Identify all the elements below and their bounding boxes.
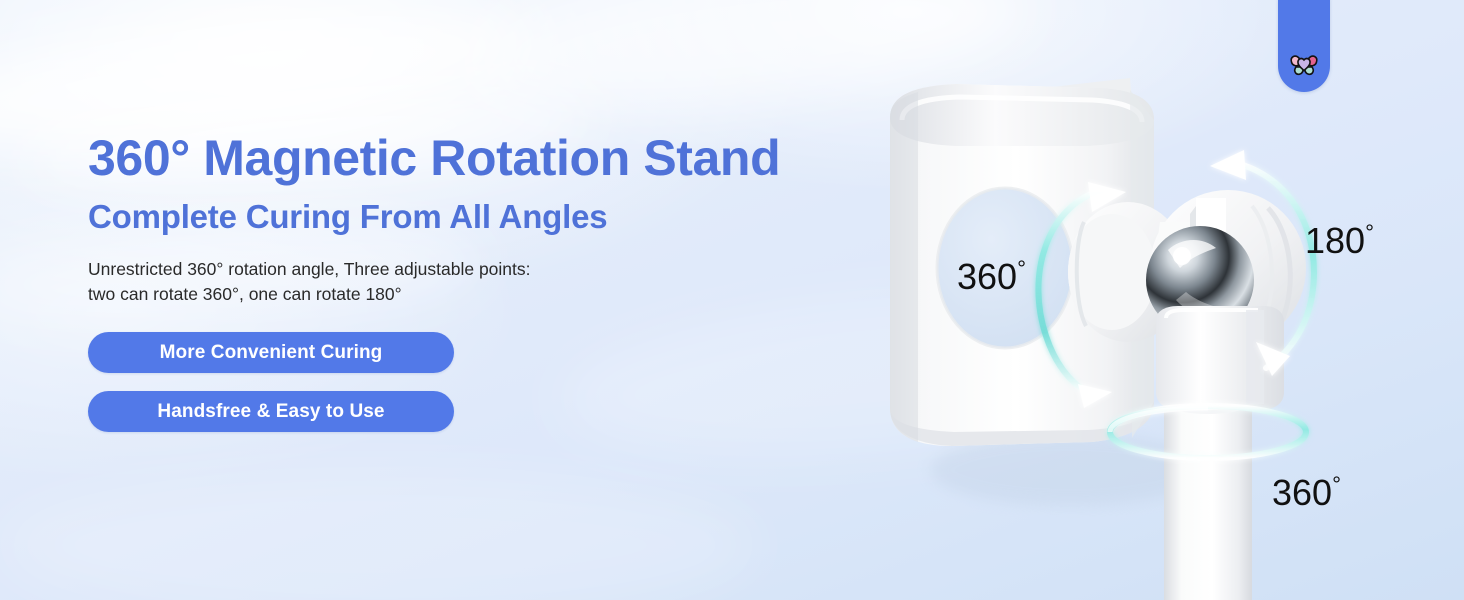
- body-line-2: two can rotate 360°, one can rotate 180°: [88, 282, 908, 307]
- page-subtitle: Complete Curing From All Angles: [88, 199, 908, 235]
- feature-pill-more-convenient-curing[interactable]: More Convenient Curing: [88, 332, 454, 373]
- product-image: [860, 0, 1464, 600]
- degree-symbol: °: [1017, 256, 1026, 281]
- annotation-180-joint-value: 180: [1305, 220, 1365, 261]
- feature-pill-list: More Convenient Curing Handsfree & Easy …: [88, 332, 908, 432]
- annotation-360-cuff-value: 360: [957, 256, 1017, 297]
- body-line-1: Unrestricted 360° rotation angle, Three …: [88, 257, 908, 282]
- annotation-180-joint: 180°: [1305, 220, 1374, 262]
- product-feature-banner: 360° Magnetic Rotation Stand Complete Cu…: [0, 0, 1464, 600]
- body-description: Unrestricted 360° rotation angle, Three …: [88, 257, 908, 307]
- copy-block: 360° Magnetic Rotation Stand Complete Cu…: [88, 132, 908, 450]
- degree-symbol: °: [1332, 472, 1341, 497]
- degree-symbol: °: [1365, 220, 1374, 245]
- annotation-360-cuff: 360°: [957, 256, 1026, 298]
- annotation-360-shaft: 360°: [1272, 472, 1341, 514]
- annotation-360-shaft-value: 360: [1272, 472, 1332, 513]
- cloud-wisp: [0, 470, 760, 600]
- feature-pill-handsfree-easy-to-use[interactable]: Handsfree & Easy to Use: [88, 391, 454, 432]
- page-title: 360° Magnetic Rotation Stand: [88, 132, 908, 185]
